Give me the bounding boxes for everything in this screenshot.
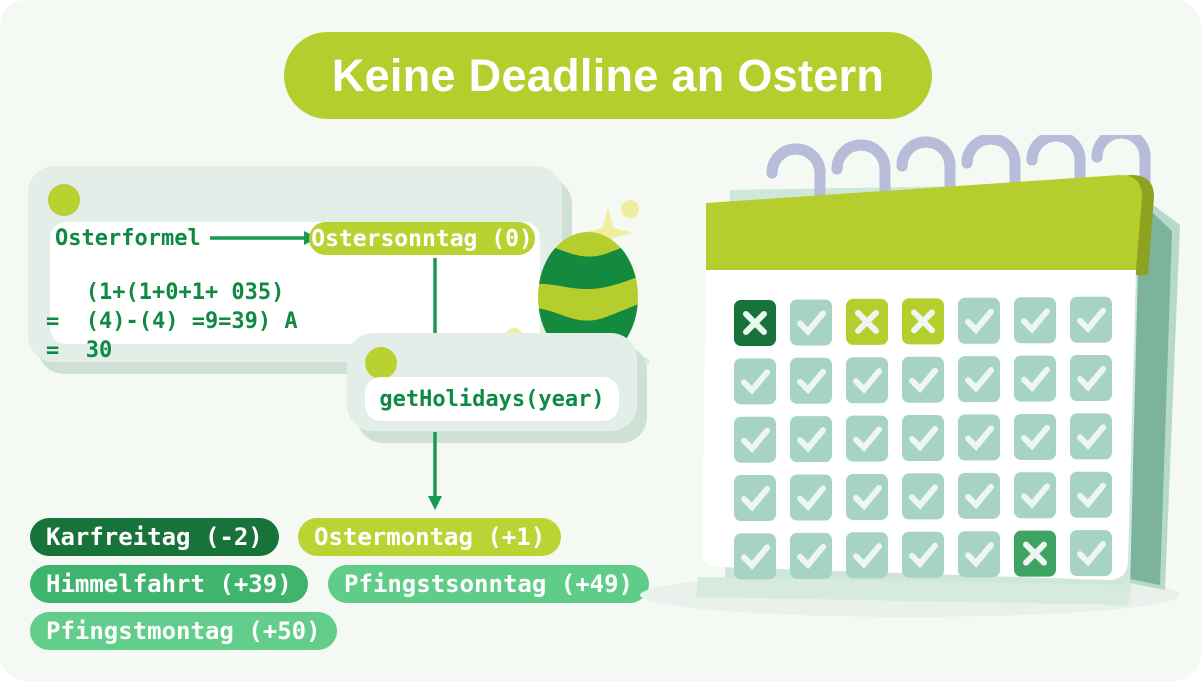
holiday-label: Ostermontag (+1) [314,523,545,551]
holiday-pill-himmelfahrt[interactable]: Himmelfahrt (+39) [30,565,308,603]
calendar-day-cell[interactable] [1014,297,1056,343]
page-title: Keine Deadline an Ostern [332,50,884,102]
calendar-day-cell[interactable] [958,415,1000,461]
calendar-day-cell[interactable] [846,357,888,403]
holiday-label: Karfreitag (-2) [46,523,263,551]
formula-line-2: = (4)-(4) =9=39) A [46,307,298,336]
holiday-label: Pfingstmontag (+50) [46,617,321,645]
getholidays-card-dot-icon [365,347,397,379]
calendar-day-cell[interactable] [790,299,832,345]
calendar-day-cell[interactable] [958,473,1000,519]
holiday-label: Pfingstsonntag (+49) [344,570,633,598]
calendar-header [706,175,1142,270]
calendar-day-cell[interactable] [1070,472,1112,518]
holiday-pill-pfingstmontag[interactable]: Pfingstmontag (+50) [30,612,337,650]
page-title-pill: Keine Deadline an Ostern [284,32,932,119]
calendar-day-cell[interactable] [902,415,944,461]
getholidays-label: getHolidays(year) [379,387,604,412]
calendar-day-cell[interactable] [734,417,776,463]
osterformel-label: Osterformel [55,226,201,251]
holiday-pill-karfreitag[interactable]: Karfreitag (-2) [30,518,279,556]
calendar-day-cell[interactable] [902,532,944,578]
calendar-day-cell[interactable] [1070,355,1112,401]
holiday-label: Himmelfahrt (+39) [46,570,292,598]
calendar-day-cell[interactable] [846,416,888,462]
calendar-day-cell[interactable] [734,358,776,404]
calendar-day-cell[interactable] [1070,530,1112,576]
holiday-pill-pfingstsonntag[interactable]: Pfingstsonntag (+49) [328,565,649,603]
calendar-day-cell[interactable] [1014,414,1056,460]
getholidays-card-inner: getHolidays(year) [365,377,619,421]
calendar-day-cell[interactable] [902,473,944,519]
poster-canvas: Keine Deadline an Ostern Osterformel Ost… [0,0,1201,681]
getholidays-card: getHolidays(year) [347,333,637,431]
calendar-day-cell[interactable] [958,531,1000,577]
calendar-day-cell[interactable] [734,475,776,521]
calendar-day-cell[interactable] [1070,413,1112,459]
calendar-day-cell[interactable] [902,357,944,403]
formula-line-3: = 30 [46,336,298,365]
formula-line-1: (1+(1+0+1+ 035) [46,278,298,307]
calendar-day-cell[interactable] [790,475,832,521]
calendar-day-cell[interactable] [846,532,888,578]
calendar-rings-front [772,135,1145,173]
arrow-formula-to-sunday-icon [210,228,320,248]
calendar-day-cell[interactable] [1014,356,1056,402]
calendar-day-cell[interactable] [734,533,776,579]
calendar-day-cell[interactable] [790,533,832,579]
calendar-illustration [620,135,1200,665]
calendar-day-cell[interactable] [958,356,1000,402]
arrow-getholidays-to-list-icon [424,432,446,512]
holiday-pill-ostermontag[interactable]: Ostermontag (+1) [298,518,561,556]
calendar-day-cell[interactable] [958,298,1000,344]
calendar-day-grid [734,297,1112,580]
calendar-day-cell[interactable] [1014,472,1056,518]
formula-card-dot-icon [48,184,80,216]
calendar-day-cell[interactable] [790,358,832,404]
calendar-day-cell[interactable] [1070,297,1112,343]
calendar-day-cell[interactable] [790,416,832,462]
formula-block: (1+(1+0+1+ 035) = (4)-(4) =9=39) A = 30 [46,278,298,365]
calendar-day-cell[interactable] [846,474,888,520]
